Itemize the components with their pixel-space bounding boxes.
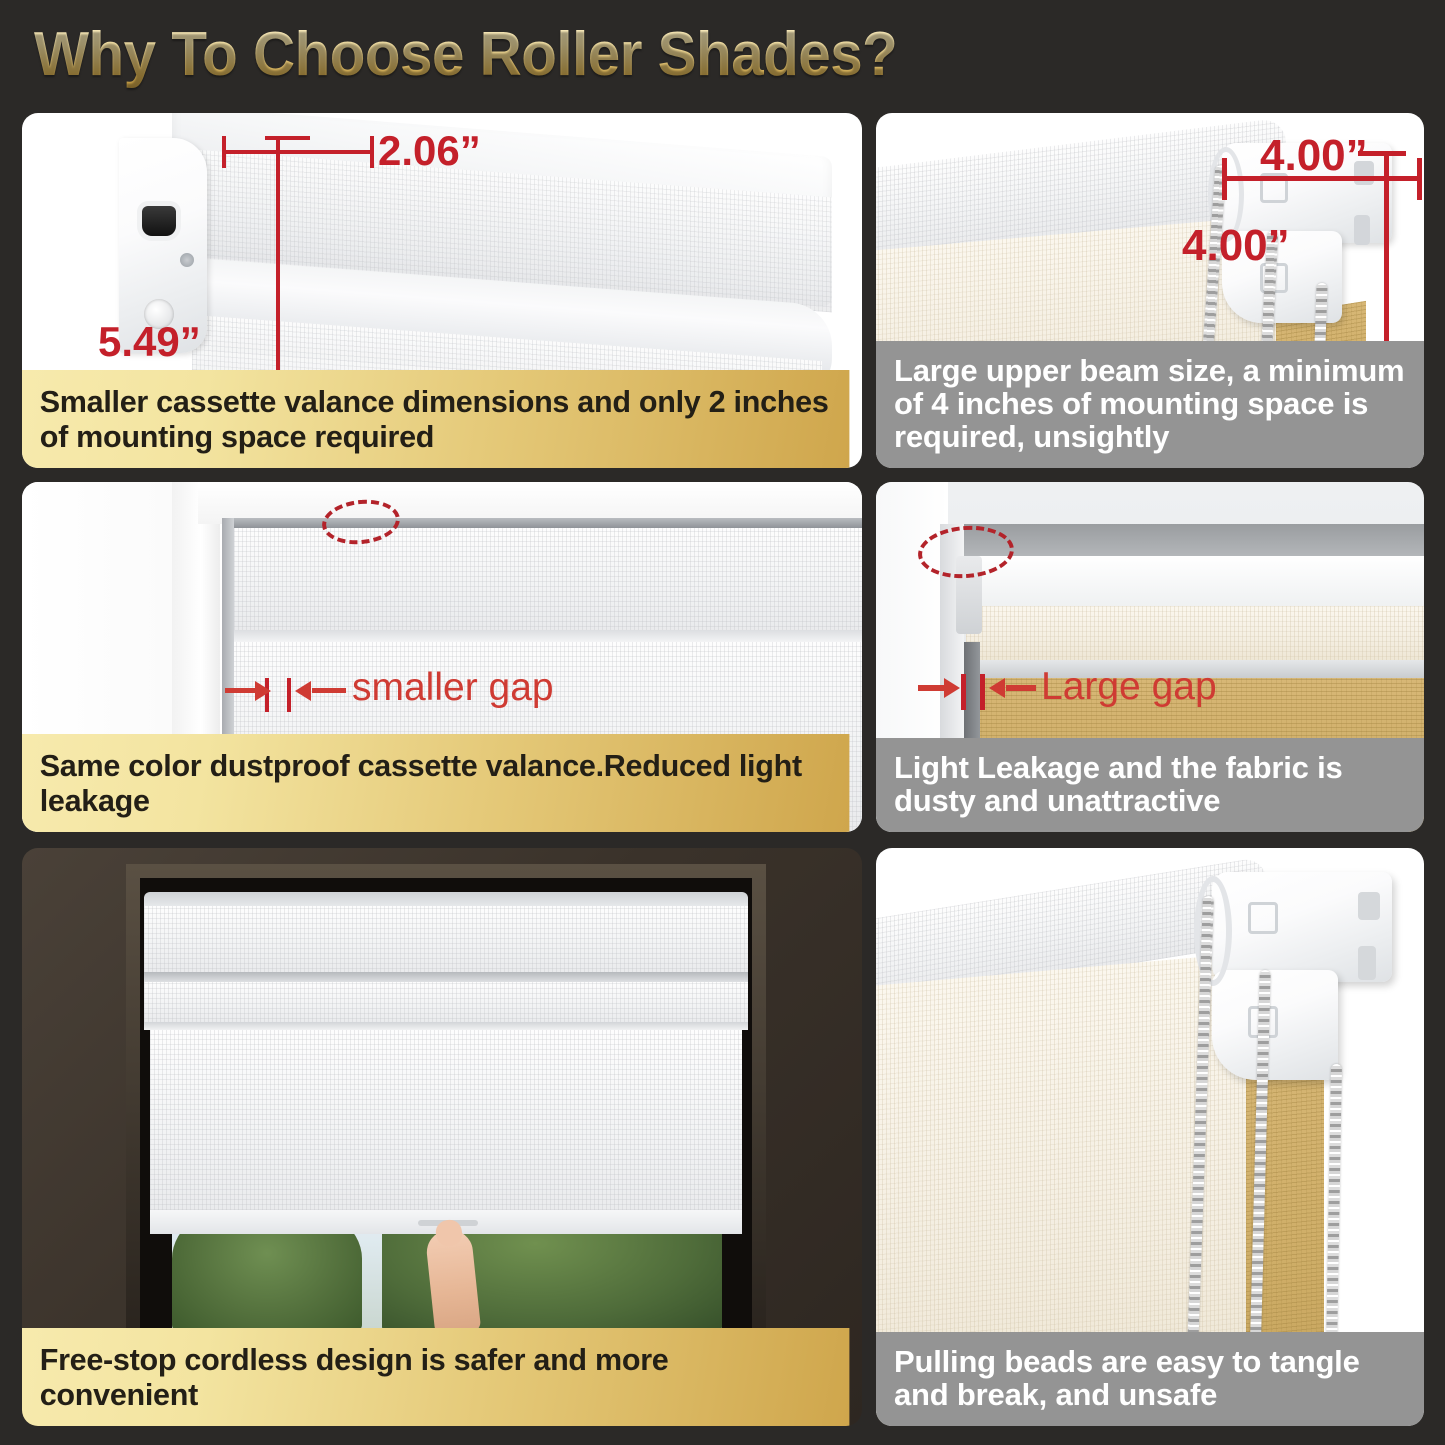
panel-caption: Pulling beads are easy to tangle and bre…: [876, 1332, 1424, 1426]
gap-arrow-right-head: [989, 678, 1005, 698]
smaller-gap-label: smaller gap: [352, 666, 554, 710]
width-dim-tick-left: [222, 136, 226, 168]
bracket-slot-lower-icon: [1354, 215, 1370, 245]
valance-face: [222, 528, 862, 632]
shade-fabric: [150, 1030, 742, 1220]
beam-width-tick-left: [1222, 158, 1227, 200]
beam-width-label: 4.00”: [1260, 131, 1368, 181]
panel-pulling-beads: Pulling beads are easy to tangle and bre…: [876, 848, 1424, 1426]
width-dim-tick-right: [370, 136, 374, 168]
gap-arrow-left-head: [944, 678, 960, 698]
beam-top-shadow: [948, 524, 1424, 560]
panel-large-gap: Large gap Light Leakage and the fabric i…: [876, 482, 1424, 832]
valance-top-edge: [222, 518, 862, 528]
end-cap-screw-small-icon: [180, 253, 194, 267]
cream-fabric-band: [966, 606, 1424, 662]
panel-caption: Large upper beam size, a minimum of 4 in…: [876, 341, 1424, 468]
gap-tick-left: [961, 674, 966, 710]
beam-width-tick-right: [1417, 158, 1422, 200]
panel-upper-beam-dimensions: 4.00” 4.00” Large upper beam size, a min…: [876, 113, 1424, 468]
gap-arrow-right-head: [295, 681, 311, 701]
beam-height-label: 4.00”: [1182, 221, 1290, 271]
end-cap-slot-icon: [142, 206, 176, 236]
bracket-slot-lower-icon: [1358, 946, 1376, 980]
gap-arrow-right-shaft: [312, 688, 346, 693]
panel-caption: Same color dustproof cassette valance.Re…: [22, 734, 849, 832]
valance-lower-band: [144, 982, 748, 1024]
height-dimension-label: 5.49”: [98, 318, 201, 366]
panel-caption: Light Leakage and the fabric is dusty an…: [876, 738, 1424, 832]
beam-front-face: [948, 556, 1424, 610]
height-dim-tick-top: [265, 136, 310, 140]
width-dim-line: [222, 150, 374, 154]
header-bar: Why To Choose Roller Shades?: [0, 0, 1445, 108]
gap-tick-right: [287, 678, 291, 712]
panel-cordless-design: Free-stop cordless design is safer and m…: [22, 848, 862, 1426]
panel-caption: Smaller cassette valance dimensions and …: [22, 370, 849, 468]
gap-arrow-right-shaft: [1006, 685, 1036, 691]
panel-smaller-gap: smaller gap Same color dustproof cassett…: [22, 482, 862, 832]
valance-face: [144, 906, 748, 974]
gap-tick-right: [980, 674, 985, 710]
valance-lower-edge: [144, 1022, 748, 1030]
bracket-slot-upper-icon: [1358, 892, 1380, 920]
panel-valance-dimensions: 2.06” 5.49” Smaller cassette valance dim…: [22, 113, 862, 468]
panel-caption: Free-stop cordless design is safer and m…: [22, 1328, 849, 1426]
page-title: Why To Choose Roller Shades?: [34, 19, 897, 90]
width-dimension-label: 2.06”: [378, 127, 481, 175]
bracket-arrow-upper-icon: [1248, 902, 1278, 934]
gap-arrow-left-head: [255, 681, 271, 701]
beam-height-tick-top: [1358, 151, 1406, 156]
gap-arrow-left-shaft: [225, 688, 259, 693]
large-gap-label: Large gap: [1041, 665, 1217, 709]
